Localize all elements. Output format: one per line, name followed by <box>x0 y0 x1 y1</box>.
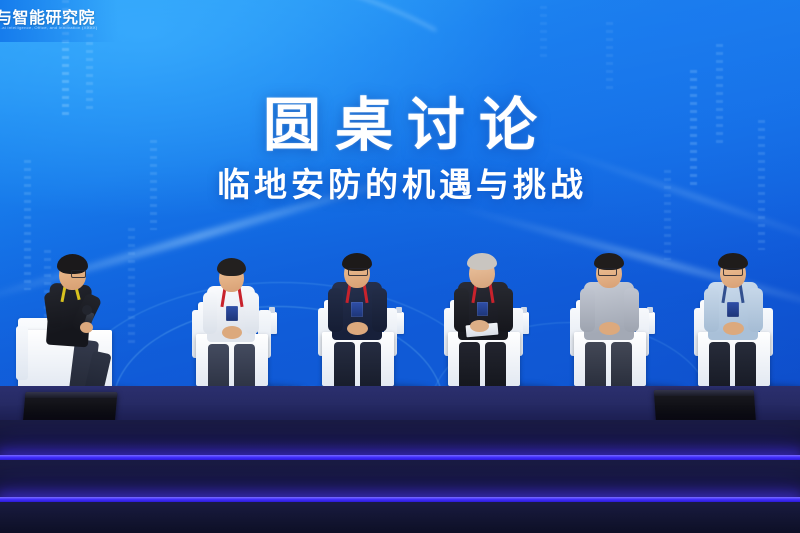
eyeglasses-icon <box>723 268 743 276</box>
institute-logo-strip: 与智能研究院 ...al Intelligence, Office, and I… <box>0 0 118 42</box>
stage-step-1 <box>0 420 800 458</box>
participant-2-badge <box>226 306 238 321</box>
stage-step-3 <box>0 502 800 533</box>
participant-4-badge <box>477 302 488 316</box>
stage-step-2 <box>0 460 800 500</box>
conference-stage-photo: 与智能研究院 ...al Intelligence, Office, and I… <box>0 0 800 533</box>
participant-6-badge <box>727 302 739 317</box>
led-backdrop-wall: 与智能研究院 ...al Intelligence, Office, and I… <box>0 0 800 400</box>
institute-name-en: ...al Intelligence, Office, and Innovati… <box>0 25 97 30</box>
eyeglasses-icon <box>598 268 617 276</box>
session-title: 圆桌讨论 <box>0 78 800 162</box>
participant-3-badge <box>351 302 363 317</box>
eyeglasses-icon <box>348 268 368 276</box>
session-subtitle: 临地安防的机遇与挑战 <box>0 158 800 206</box>
eyeglasses-icon <box>71 270 86 278</box>
